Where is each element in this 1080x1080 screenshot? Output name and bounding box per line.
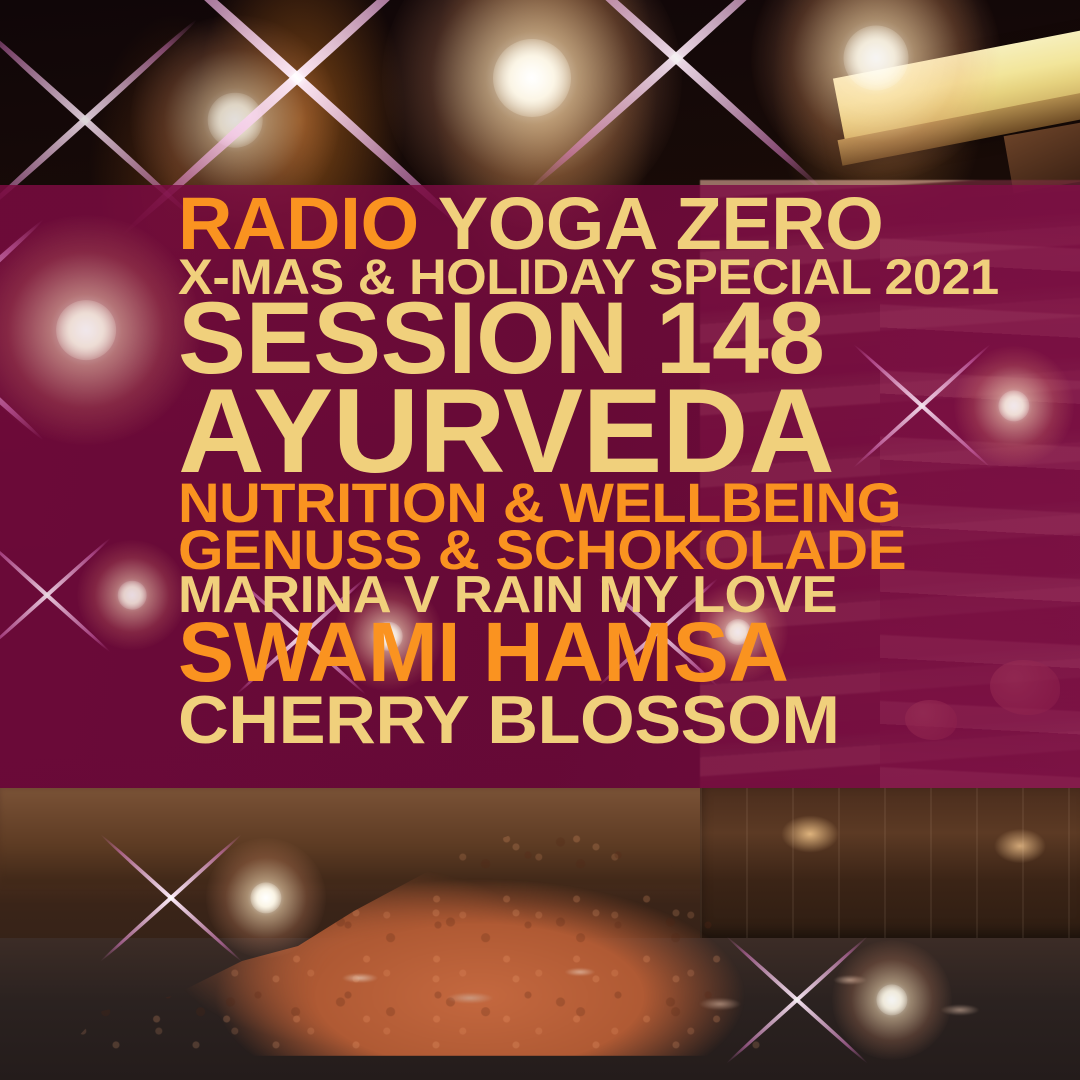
line-artist-swami-hamsa: SWAMI HAMSA (178, 616, 934, 690)
line-station: RADIO YOGA ZERO (178, 190, 949, 258)
line-artist-cherry-blossom: CHERRY BLOSSOM (178, 688, 960, 753)
poster-canvas: RADIO YOGA ZERO X-MAS & HOLIDAY SPECIAL … (0, 0, 1080, 1080)
line-topic: AYURVEDA (178, 377, 934, 485)
chocolate-shavings (330, 958, 1030, 1054)
chocolate-bar-foreground (700, 788, 1080, 938)
poster-text-block: RADIO YOGA ZERO X-MAS & HOLIDAY SPECIAL … (178, 190, 934, 753)
foreground-photo (0, 788, 1080, 1080)
